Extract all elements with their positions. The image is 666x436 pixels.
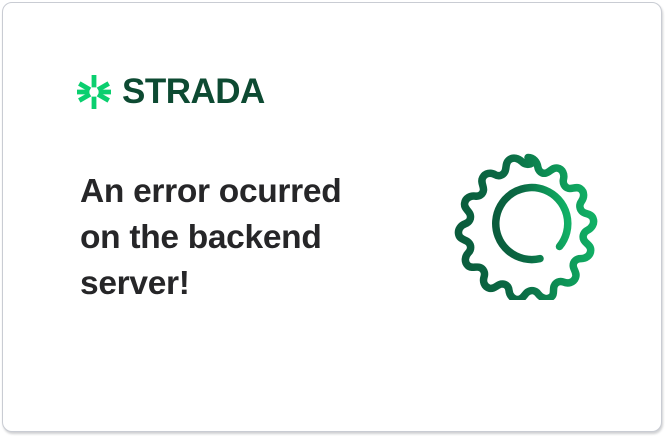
brand-wordmark: STRADA [122,74,265,109]
gear-illustration [451,146,605,300]
brand-lockup: STRADA [77,73,265,111]
strada-asterisk-icon [77,75,111,109]
screen: STRADA An error ocurred on the backend s… [0,0,666,436]
error-card: STRADA An error ocurred on the backend s… [2,2,662,432]
error-message: An error ocurred on the backend server! [80,169,370,307]
